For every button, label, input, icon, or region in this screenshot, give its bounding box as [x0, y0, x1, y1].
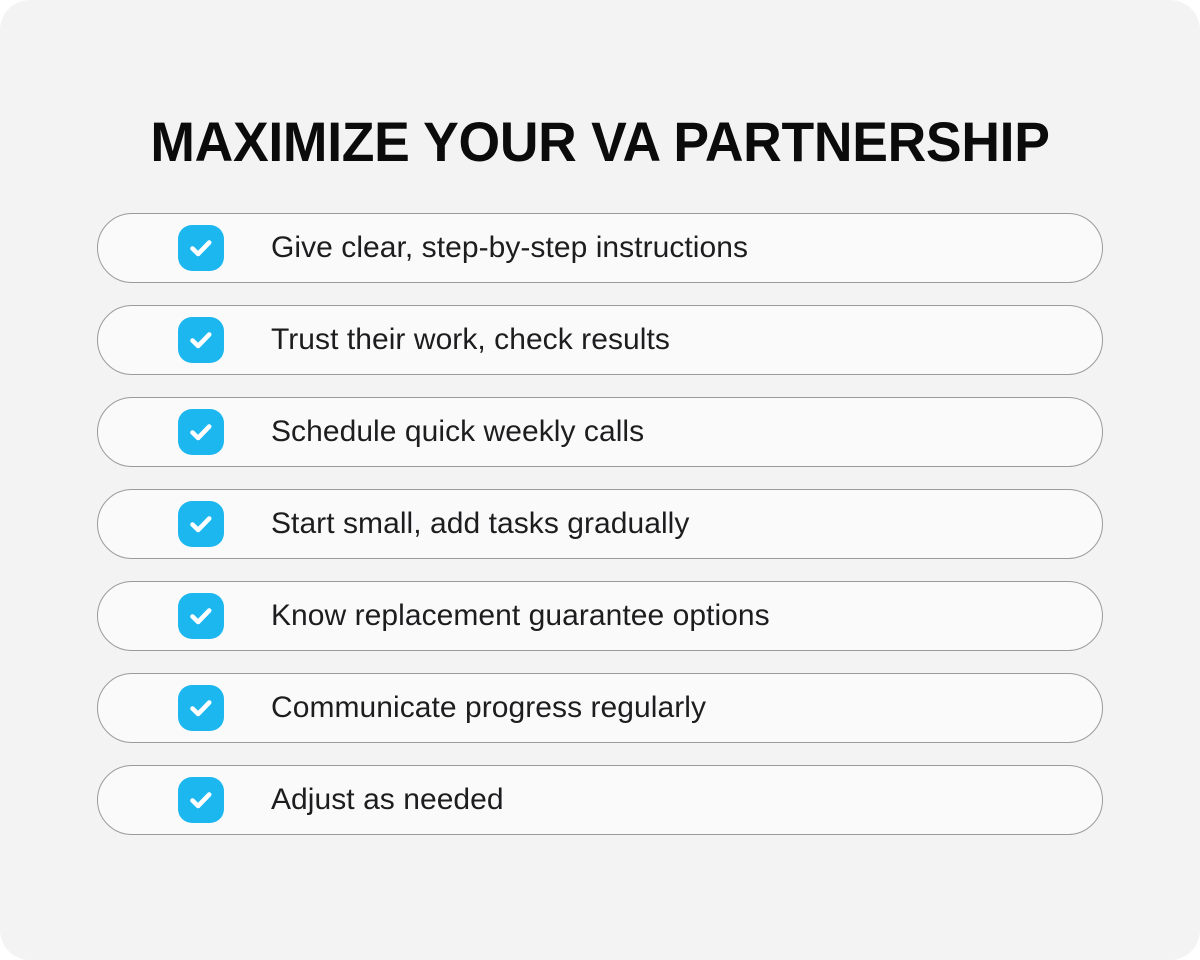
- list-item-label: Know replacement guarantee options: [271, 599, 1062, 633]
- page-title: MAXIMIZE YOUR VA PARTNERSHIP: [27, 108, 1173, 176]
- check-icon[interactable]: [178, 777, 224, 823]
- check-icon[interactable]: [178, 409, 224, 455]
- list-item[interactable]: Know replacement guarantee options: [97, 581, 1103, 651]
- list-item-label: Schedule quick weekly calls: [271, 415, 1062, 449]
- check-icon[interactable]: [178, 501, 224, 547]
- list-item[interactable]: Give clear, step-by-step instructions: [97, 213, 1103, 283]
- checklist-card: MAXIMIZE YOUR VA PARTNERSHIP Give clear,…: [0, 0, 1200, 960]
- check-icon[interactable]: [178, 593, 224, 639]
- list-item[interactable]: Adjust as needed: [97, 765, 1103, 835]
- checklist: Give clear, step-by-step instructions Tr…: [97, 213, 1103, 835]
- list-item[interactable]: Start small, add tasks gradually: [97, 489, 1103, 559]
- list-item-label: Trust their work, check results: [271, 323, 1062, 357]
- check-icon[interactable]: [178, 685, 224, 731]
- check-icon[interactable]: [178, 317, 224, 363]
- list-item[interactable]: Schedule quick weekly calls: [97, 397, 1103, 467]
- check-icon[interactable]: [178, 225, 224, 271]
- list-item-label: Adjust as needed: [271, 783, 1062, 817]
- list-item[interactable]: Communicate progress regularly: [97, 673, 1103, 743]
- list-item[interactable]: Trust their work, check results: [97, 305, 1103, 375]
- list-item-label: Communicate progress regularly: [271, 691, 1062, 725]
- list-item-label: Give clear, step-by-step instructions: [271, 231, 1062, 265]
- list-item-label: Start small, add tasks gradually: [271, 507, 1062, 541]
